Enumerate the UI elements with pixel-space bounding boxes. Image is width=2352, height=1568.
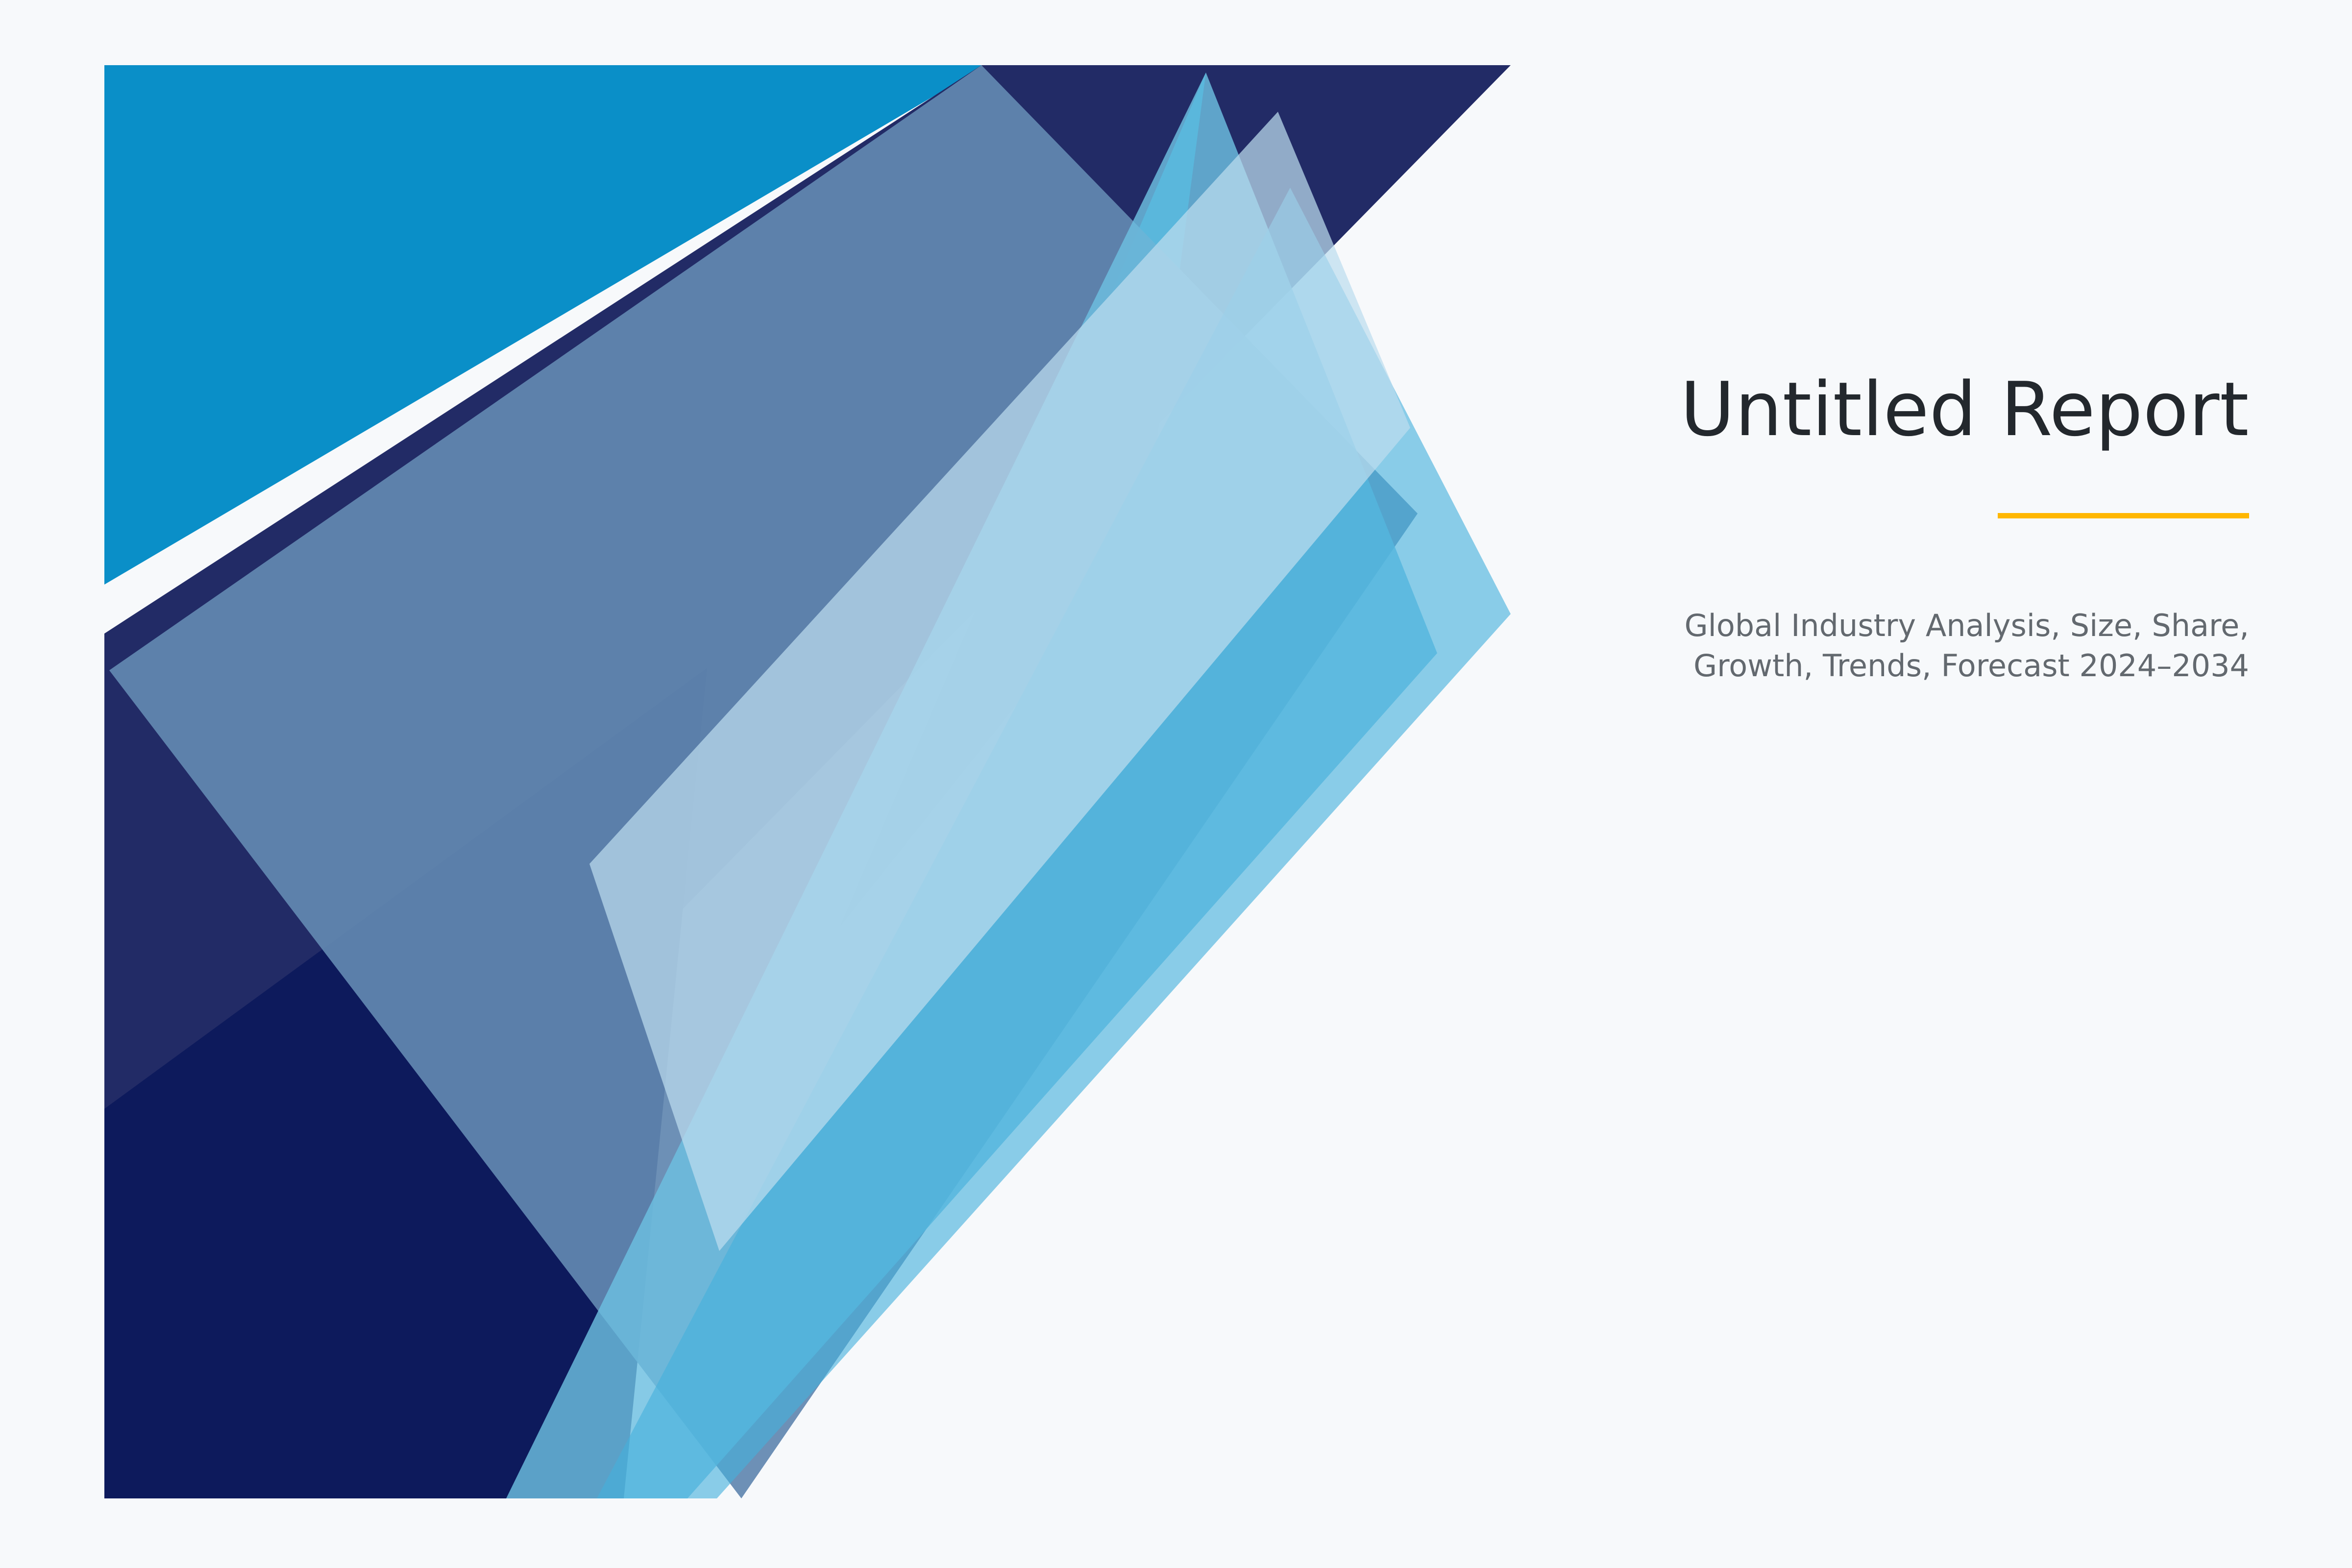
- title-divider-wrapper: [1617, 511, 2249, 520]
- page-title: Untitled Report: [1617, 372, 2249, 447]
- page-subtitle: Global Industry Analysis, Size, Share, G…: [1617, 606, 2249, 686]
- title-divider: [1998, 513, 2249, 518]
- cover-text-block: Untitled Report Global Industry Analysis…: [1617, 372, 2249, 686]
- abstract-geometric-cover-graphic: [104, 65, 1511, 1498]
- report-cover-page: Untitled Report Global Industry Analysis…: [0, 0, 2352, 1568]
- artwork-svg: [104, 65, 1511, 1498]
